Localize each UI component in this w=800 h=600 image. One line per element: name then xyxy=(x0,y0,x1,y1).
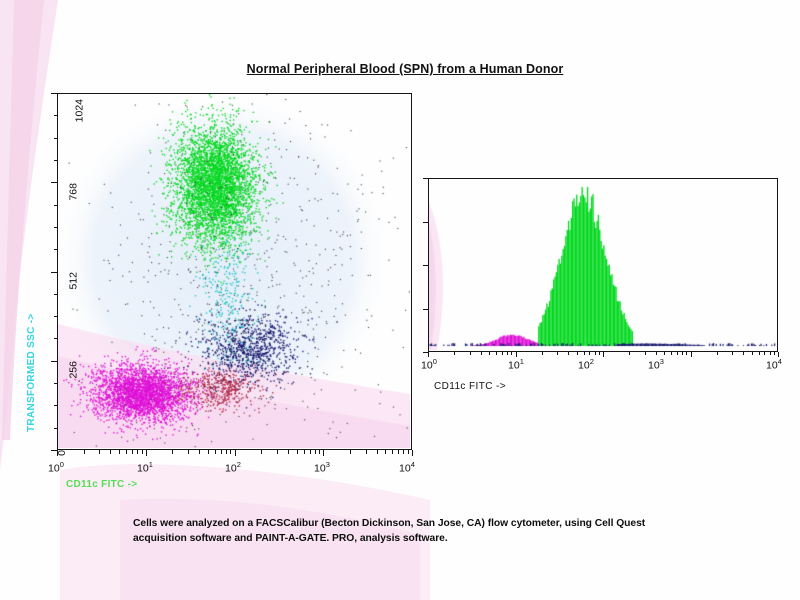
x-tick-label-1e0: 100 xyxy=(48,460,64,475)
main-x-tick xyxy=(297,450,298,454)
main-x-tick xyxy=(304,450,305,454)
inset-x-tick xyxy=(603,352,604,357)
inset-x-tick xyxy=(542,352,543,355)
inset-x-tick-mantissa-4: 10 xyxy=(766,360,778,372)
x-tick-label-1e2: 102 xyxy=(225,460,241,475)
inset-x-tick-mantissa-0: 10 xyxy=(421,360,433,372)
main-x-tick xyxy=(119,450,120,454)
inset-x-tick-exponent-2: 2 xyxy=(590,357,594,366)
main-x-tick xyxy=(398,450,399,454)
main-y-tick xyxy=(51,450,57,451)
figure-title: Normal Peripheral Blood (SPN) from a Hum… xyxy=(205,62,605,76)
main-x-tick xyxy=(366,450,367,454)
main-y-tick xyxy=(54,405,58,406)
x-tick-mantissa-0: 10 xyxy=(48,463,60,475)
inset-y-tick xyxy=(423,309,428,310)
inset-x-tick xyxy=(770,352,771,355)
x-tick-label-1e3: 103 xyxy=(314,460,330,475)
main-x-tick xyxy=(84,450,85,454)
inset-y-tick xyxy=(423,352,428,353)
main-x-tick xyxy=(226,450,227,454)
main-y-tick xyxy=(54,338,58,339)
inset-x-tick xyxy=(764,352,765,355)
main-x-tick xyxy=(288,450,289,454)
inset-x-tick-label-1e0: 100 xyxy=(421,357,437,372)
main-y-tick xyxy=(54,227,58,228)
main-x-tick xyxy=(319,450,320,454)
inset-x-tick xyxy=(428,352,429,357)
main-y-tick xyxy=(51,272,57,273)
main-x-tick xyxy=(208,450,209,454)
inset-x-tick xyxy=(717,352,718,355)
caption-line-1: Cells were analyzed on a FACSCalibur (Be… xyxy=(133,516,733,531)
inset-x-tick-label-1e2: 102 xyxy=(578,357,594,372)
inset-x-tick xyxy=(774,352,775,355)
x-tick-mantissa-1: 10 xyxy=(137,463,149,475)
main-x-tick xyxy=(146,450,147,456)
main-x-tick xyxy=(172,450,173,454)
inset-x-tick-mantissa-2: 10 xyxy=(578,360,590,372)
main-x-tick xyxy=(215,450,216,454)
inset-x-tick xyxy=(682,352,683,355)
inset-x-tick xyxy=(568,352,569,355)
x-tick-label-1e4: 104 xyxy=(399,460,415,475)
y-tick-label-512: 512 xyxy=(68,272,80,290)
y-tick-label-1024: 1024 xyxy=(73,99,85,122)
x-tick-exponent-1: 1 xyxy=(149,460,153,469)
y-tick-label-256: 256 xyxy=(68,361,80,379)
scatter-points-canvas xyxy=(58,94,410,448)
inset-x-tick xyxy=(507,352,508,355)
inset-histogram-plot xyxy=(428,178,778,352)
inset-x-tick xyxy=(496,352,497,355)
x-tick-exponent-4: 4 xyxy=(411,460,415,469)
x-tick-exponent-2: 2 xyxy=(237,460,241,469)
main-x-tick xyxy=(126,450,127,454)
main-y-tick xyxy=(54,160,58,161)
main-x-tick xyxy=(385,450,386,454)
main-x-tick xyxy=(230,450,231,454)
inset-x-tick xyxy=(470,352,471,355)
main-y-tick xyxy=(51,361,57,362)
inset-x-tick xyxy=(589,352,590,355)
inset-x-tick xyxy=(481,352,482,355)
inset-x-axis-title: CD11c FITC -> xyxy=(434,381,506,392)
inset-x-tick-exponent-0: 0 xyxy=(433,357,437,366)
main-x-tick xyxy=(377,450,378,454)
main-x-tick xyxy=(350,450,351,454)
main-x-tick xyxy=(323,450,324,456)
inset-x-tick xyxy=(595,352,596,355)
x-tick-exponent-0: 0 xyxy=(60,460,64,469)
inset-x-tick xyxy=(599,352,600,355)
inset-x-tick-exponent-3: 3 xyxy=(660,357,664,366)
main-x-tick xyxy=(277,450,278,454)
main-y-tick xyxy=(54,428,58,429)
inset-y-tick xyxy=(423,222,428,223)
main-x-tick xyxy=(310,450,311,454)
main-x-tick xyxy=(235,450,236,456)
main-y-tick xyxy=(54,316,58,317)
y-tick-label-768: 768 xyxy=(68,183,80,201)
inset-x-tick xyxy=(732,352,733,355)
figure-page: Normal Peripheral Blood (SPN) from a Hum… xyxy=(0,0,800,600)
main-y-tick xyxy=(54,138,58,139)
x-tick-mantissa-2: 10 xyxy=(225,463,237,475)
inset-y-tick xyxy=(423,265,428,266)
inset-x-tick-label-1e3: 103 xyxy=(648,357,664,372)
x-tick-exponent-3: 3 xyxy=(326,460,330,469)
inset-x-tick xyxy=(454,352,455,355)
main-x-tick xyxy=(132,450,133,454)
main-x-tick xyxy=(57,450,58,456)
main-x-tick xyxy=(261,450,262,454)
inset-x-tick xyxy=(656,352,657,355)
inset-x-tick xyxy=(691,352,692,357)
main-x-tick xyxy=(99,450,100,454)
main-x-tick xyxy=(403,450,404,454)
inset-x-tick xyxy=(629,352,630,355)
main-y-tick xyxy=(54,294,58,295)
main-x-tick xyxy=(315,450,316,454)
inset-x-tick xyxy=(557,352,558,355)
inset-x-tick xyxy=(759,352,760,355)
main-x-tick xyxy=(392,450,393,454)
main-y-tick xyxy=(51,182,57,183)
inset-x-tick-mantissa-3: 10 xyxy=(648,360,660,372)
inset-x-tick xyxy=(511,352,512,355)
x-tick-mantissa-3: 10 xyxy=(314,463,326,475)
inset-x-tick xyxy=(743,352,744,355)
main-y-tick xyxy=(54,249,58,250)
inset-x-tick xyxy=(584,352,585,355)
x-tick-mantissa-4: 10 xyxy=(399,463,411,475)
x-axis-title: CD11c FITC -> xyxy=(66,479,137,490)
x-tick-label-1e1: 101 xyxy=(137,460,153,475)
inset-x-tick xyxy=(577,352,578,355)
main-x-tick xyxy=(137,450,138,454)
main-x-tick xyxy=(412,450,413,456)
inset-x-tick xyxy=(671,352,672,355)
main-x-tick xyxy=(188,450,189,454)
main-y-tick xyxy=(51,93,57,94)
main-y-tick xyxy=(54,205,58,206)
inset-x-tick xyxy=(489,352,490,355)
inset-x-tick-exponent-1: 1 xyxy=(520,357,524,366)
main-x-tick xyxy=(110,450,111,454)
main-x-tick xyxy=(142,450,143,454)
inset-x-tick xyxy=(645,352,646,355)
inset-x-tick-label-1e4: 104 xyxy=(766,357,782,372)
inset-x-tick xyxy=(677,352,678,355)
main-x-tick xyxy=(408,450,409,454)
inset-x-tick xyxy=(516,352,517,357)
inset-x-tick-exponent-4: 4 xyxy=(778,357,782,366)
inset-x-tick xyxy=(502,352,503,355)
inset-x-tick xyxy=(752,352,753,355)
caption-line-2: acquisition software and PAINT-A-GATE. P… xyxy=(133,531,733,546)
figure-caption: Cells were analyzed on a FACSCalibur (Be… xyxy=(133,516,733,546)
main-x-tick xyxy=(199,450,200,454)
main-scatter-plot xyxy=(57,93,412,450)
inset-x-tick-label-1e1: 101 xyxy=(508,357,524,372)
main-y-tick xyxy=(54,383,58,384)
histogram-canvas xyxy=(429,179,776,350)
inset-x-tick xyxy=(664,352,665,355)
inset-x-tick xyxy=(778,352,779,357)
main-y-tick xyxy=(54,115,58,116)
inset-x-tick-mantissa-1: 10 xyxy=(508,360,520,372)
main-x-tick xyxy=(221,450,222,454)
y-axis-title: TRANSFORMED SSC -> xyxy=(26,314,37,432)
inset-y-tick xyxy=(423,178,428,179)
inset-x-tick xyxy=(686,352,687,355)
